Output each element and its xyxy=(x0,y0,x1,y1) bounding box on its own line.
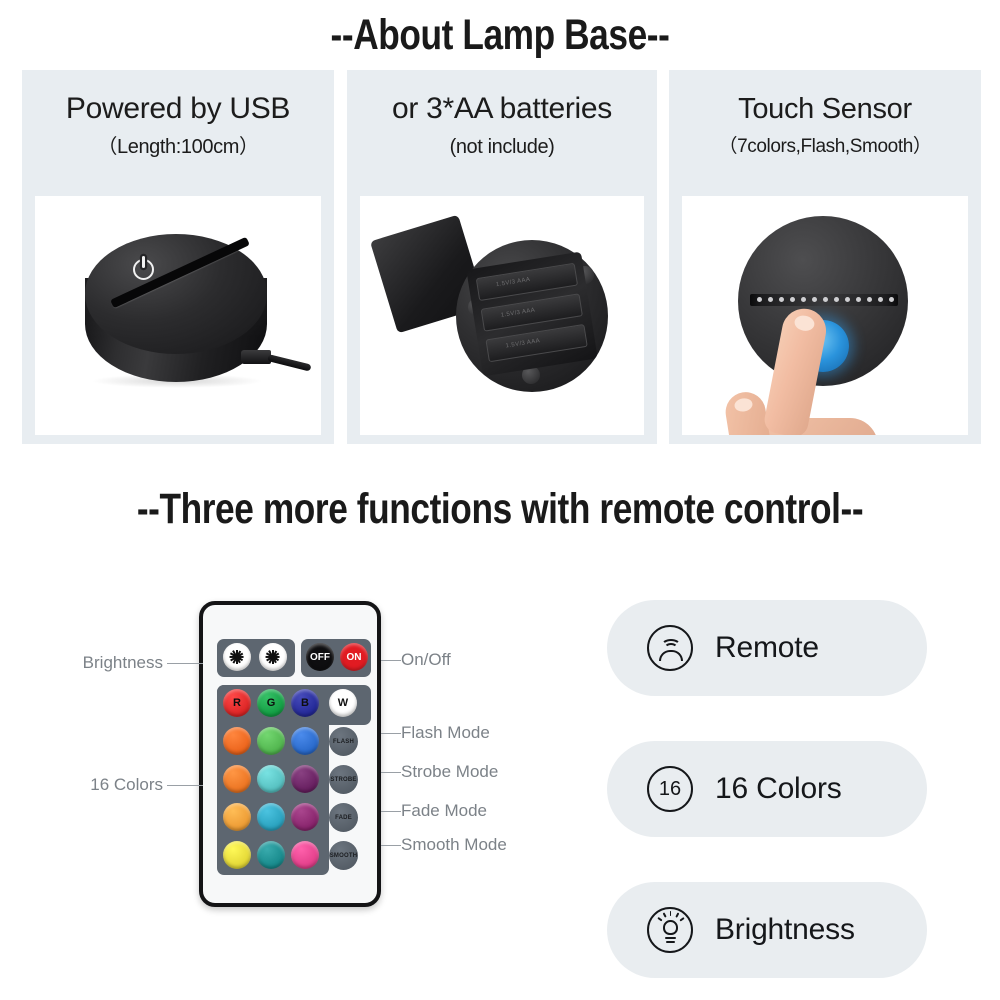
battery-slot: 1.5V/3 AAA xyxy=(485,324,587,362)
remote-button-off[interactable]: OFF xyxy=(306,643,334,671)
feature-pill-brightness[interactable]: Brightness xyxy=(607,882,927,978)
led-dot xyxy=(779,297,784,302)
callout-leader-line xyxy=(381,660,401,661)
remote-color-button[interactable] xyxy=(257,841,285,869)
remote-color-button[interactable] xyxy=(223,841,251,869)
battery-compartment-photo: 1.5V/3 AAA 1.5V/3 AAA 1.5V/3 AAA xyxy=(360,196,644,435)
callout-leader-line xyxy=(167,785,203,786)
remote-color-button[interactable] xyxy=(257,803,285,831)
remote-button-b[interactable]: B xyxy=(291,689,319,717)
bulb-base-line xyxy=(666,941,675,943)
led-dot xyxy=(845,297,850,302)
remote-button-fade[interactable]: FADE xyxy=(329,803,358,832)
base-underside: 1.5V/3 AAA 1.5V/3 AAA 1.5V/3 AAA xyxy=(456,240,608,392)
led-dot xyxy=(878,297,883,302)
callout-label-on-off: On/Off xyxy=(401,650,451,670)
remote-button-on[interactable]: ON xyxy=(340,643,368,671)
remote-button-flash[interactable]: FLASH xyxy=(329,727,358,756)
remote-color-button[interactable] xyxy=(291,841,319,869)
brightness-bulb-icon xyxy=(647,907,693,953)
led-dot xyxy=(834,297,839,302)
led-dot xyxy=(889,297,894,302)
callout-leader-line xyxy=(381,772,401,773)
lamp-base-usb-photo xyxy=(35,196,321,435)
feature-pill-label: 16 Colors xyxy=(715,772,842,806)
battery-cavity: 1.5V/3 AAA 1.5V/3 AAA 1.5V/3 AAA xyxy=(466,252,597,377)
led-dot xyxy=(823,297,828,302)
led-dot xyxy=(768,297,773,302)
callout-leader-line xyxy=(167,663,203,664)
bulb-base-line xyxy=(665,937,676,939)
callout-leader-line xyxy=(381,845,401,846)
lamp-base-illustration xyxy=(35,196,321,435)
touch-sensor-photo xyxy=(682,196,968,435)
remote-brightness-up-icon[interactable] xyxy=(223,643,251,671)
sixteen-badge-number: 16 xyxy=(649,768,691,810)
led-dot xyxy=(757,297,762,302)
sun-icon xyxy=(267,651,280,664)
callout-leader-line xyxy=(381,733,401,734)
led-strip xyxy=(750,294,898,306)
card-subtitle: （Length:100cm） xyxy=(22,135,334,159)
led-dot xyxy=(867,297,872,302)
signal-arc-inner xyxy=(664,643,678,654)
feature-pill-label: Remote xyxy=(715,631,819,665)
feature-card-batteries: or 3*AA batteries (not include) 1.5V/3 A… xyxy=(347,70,657,444)
bulb-ray xyxy=(662,912,666,917)
callout-label-fade-mode: Fade Mode xyxy=(401,801,487,821)
callout-label-strobe-mode: Strobe Mode xyxy=(401,762,498,782)
callout-label-flash-mode: Flash Mode xyxy=(401,723,490,743)
feature-pill-16-colors[interactable]: 16 16 Colors xyxy=(607,741,927,837)
sun-icon xyxy=(231,651,244,664)
remote-color-button[interactable] xyxy=(223,803,251,831)
callout-label-16-colors: 16 Colors xyxy=(90,775,163,795)
callout-label-brightness: Brightness xyxy=(83,653,163,673)
led-dot xyxy=(812,297,817,302)
power-symbol-icon xyxy=(133,259,154,280)
card-subtitle: （7colors,Flash,Smooth） xyxy=(669,135,981,159)
battery-slot-label: 1.5V/3 AAA xyxy=(500,307,535,318)
usb-cable xyxy=(241,348,305,368)
card-title: Powered by USB xyxy=(22,92,334,126)
feature-pill-label: Brightness xyxy=(715,913,855,947)
remote-button-w[interactable]: W xyxy=(329,689,357,717)
remote-color-button[interactable] xyxy=(223,765,251,793)
section-heading-lamp-base: --About Lamp Base-- xyxy=(90,10,910,60)
led-dot xyxy=(856,297,861,302)
lamp-base-disc xyxy=(738,216,908,386)
remote-signal-icon xyxy=(647,625,693,671)
remote-button-strobe[interactable]: STROBE xyxy=(329,765,358,794)
battery-slot-label: 1.5V/3 AAA xyxy=(505,338,540,349)
card-subtitle: (not include) xyxy=(347,135,657,159)
bulb-ray xyxy=(657,917,662,921)
remote-color-button[interactable] xyxy=(291,765,319,793)
remote-color-button[interactable] xyxy=(291,727,319,755)
led-dot xyxy=(801,297,806,302)
battery-illustration: 1.5V/3 AAA 1.5V/3 AAA 1.5V/3 AAA xyxy=(360,196,644,435)
led-dot xyxy=(790,297,795,302)
feature-pill-remote[interactable]: Remote xyxy=(607,600,927,696)
feature-card-touch-sensor: Touch Sensor （7colors,Flash,Smooth） xyxy=(669,70,981,444)
touch-sensor-illustration xyxy=(682,196,968,435)
usb-plug xyxy=(241,350,271,364)
battery-slot-label: 1.5V/3 AAA xyxy=(496,277,531,288)
infographic-page: --About Lamp Base-- Powered by USB （Leng… xyxy=(0,0,1000,1000)
callout-label-smooth-mode: Smooth Mode xyxy=(401,835,507,855)
remote-color-button[interactable] xyxy=(291,803,319,831)
remote-color-button[interactable] xyxy=(257,727,285,755)
bulb-ray xyxy=(670,911,672,916)
feature-card-usb: Powered by USB （Length:100cm） xyxy=(22,70,334,444)
section-heading-remote-functions: --Three more functions with remote contr… xyxy=(90,484,910,534)
sixteen-circle-icon: 16 xyxy=(647,766,693,812)
remote-brightness-down-icon[interactable] xyxy=(259,643,287,671)
remote-color-button[interactable] xyxy=(223,727,251,755)
bulb-ray xyxy=(679,917,684,921)
bulb-glass xyxy=(663,920,678,935)
remote-button-g[interactable]: G xyxy=(257,689,285,717)
remote-button-smooth[interactable]: SMOOTH xyxy=(329,841,358,870)
base-top-surface xyxy=(85,234,267,354)
rgb-remote-control: OFFONRGBWFLASHSTROBEFADESMOOTH xyxy=(199,601,381,907)
card-title: or 3*AA batteries xyxy=(347,92,657,126)
callout-leader-line xyxy=(381,811,401,812)
remote-button-r[interactable]: R xyxy=(223,689,251,717)
bulb-ray xyxy=(675,912,679,917)
remote-color-button[interactable] xyxy=(257,765,285,793)
card-title: Touch Sensor xyxy=(669,92,981,126)
usb-wire xyxy=(267,354,311,371)
